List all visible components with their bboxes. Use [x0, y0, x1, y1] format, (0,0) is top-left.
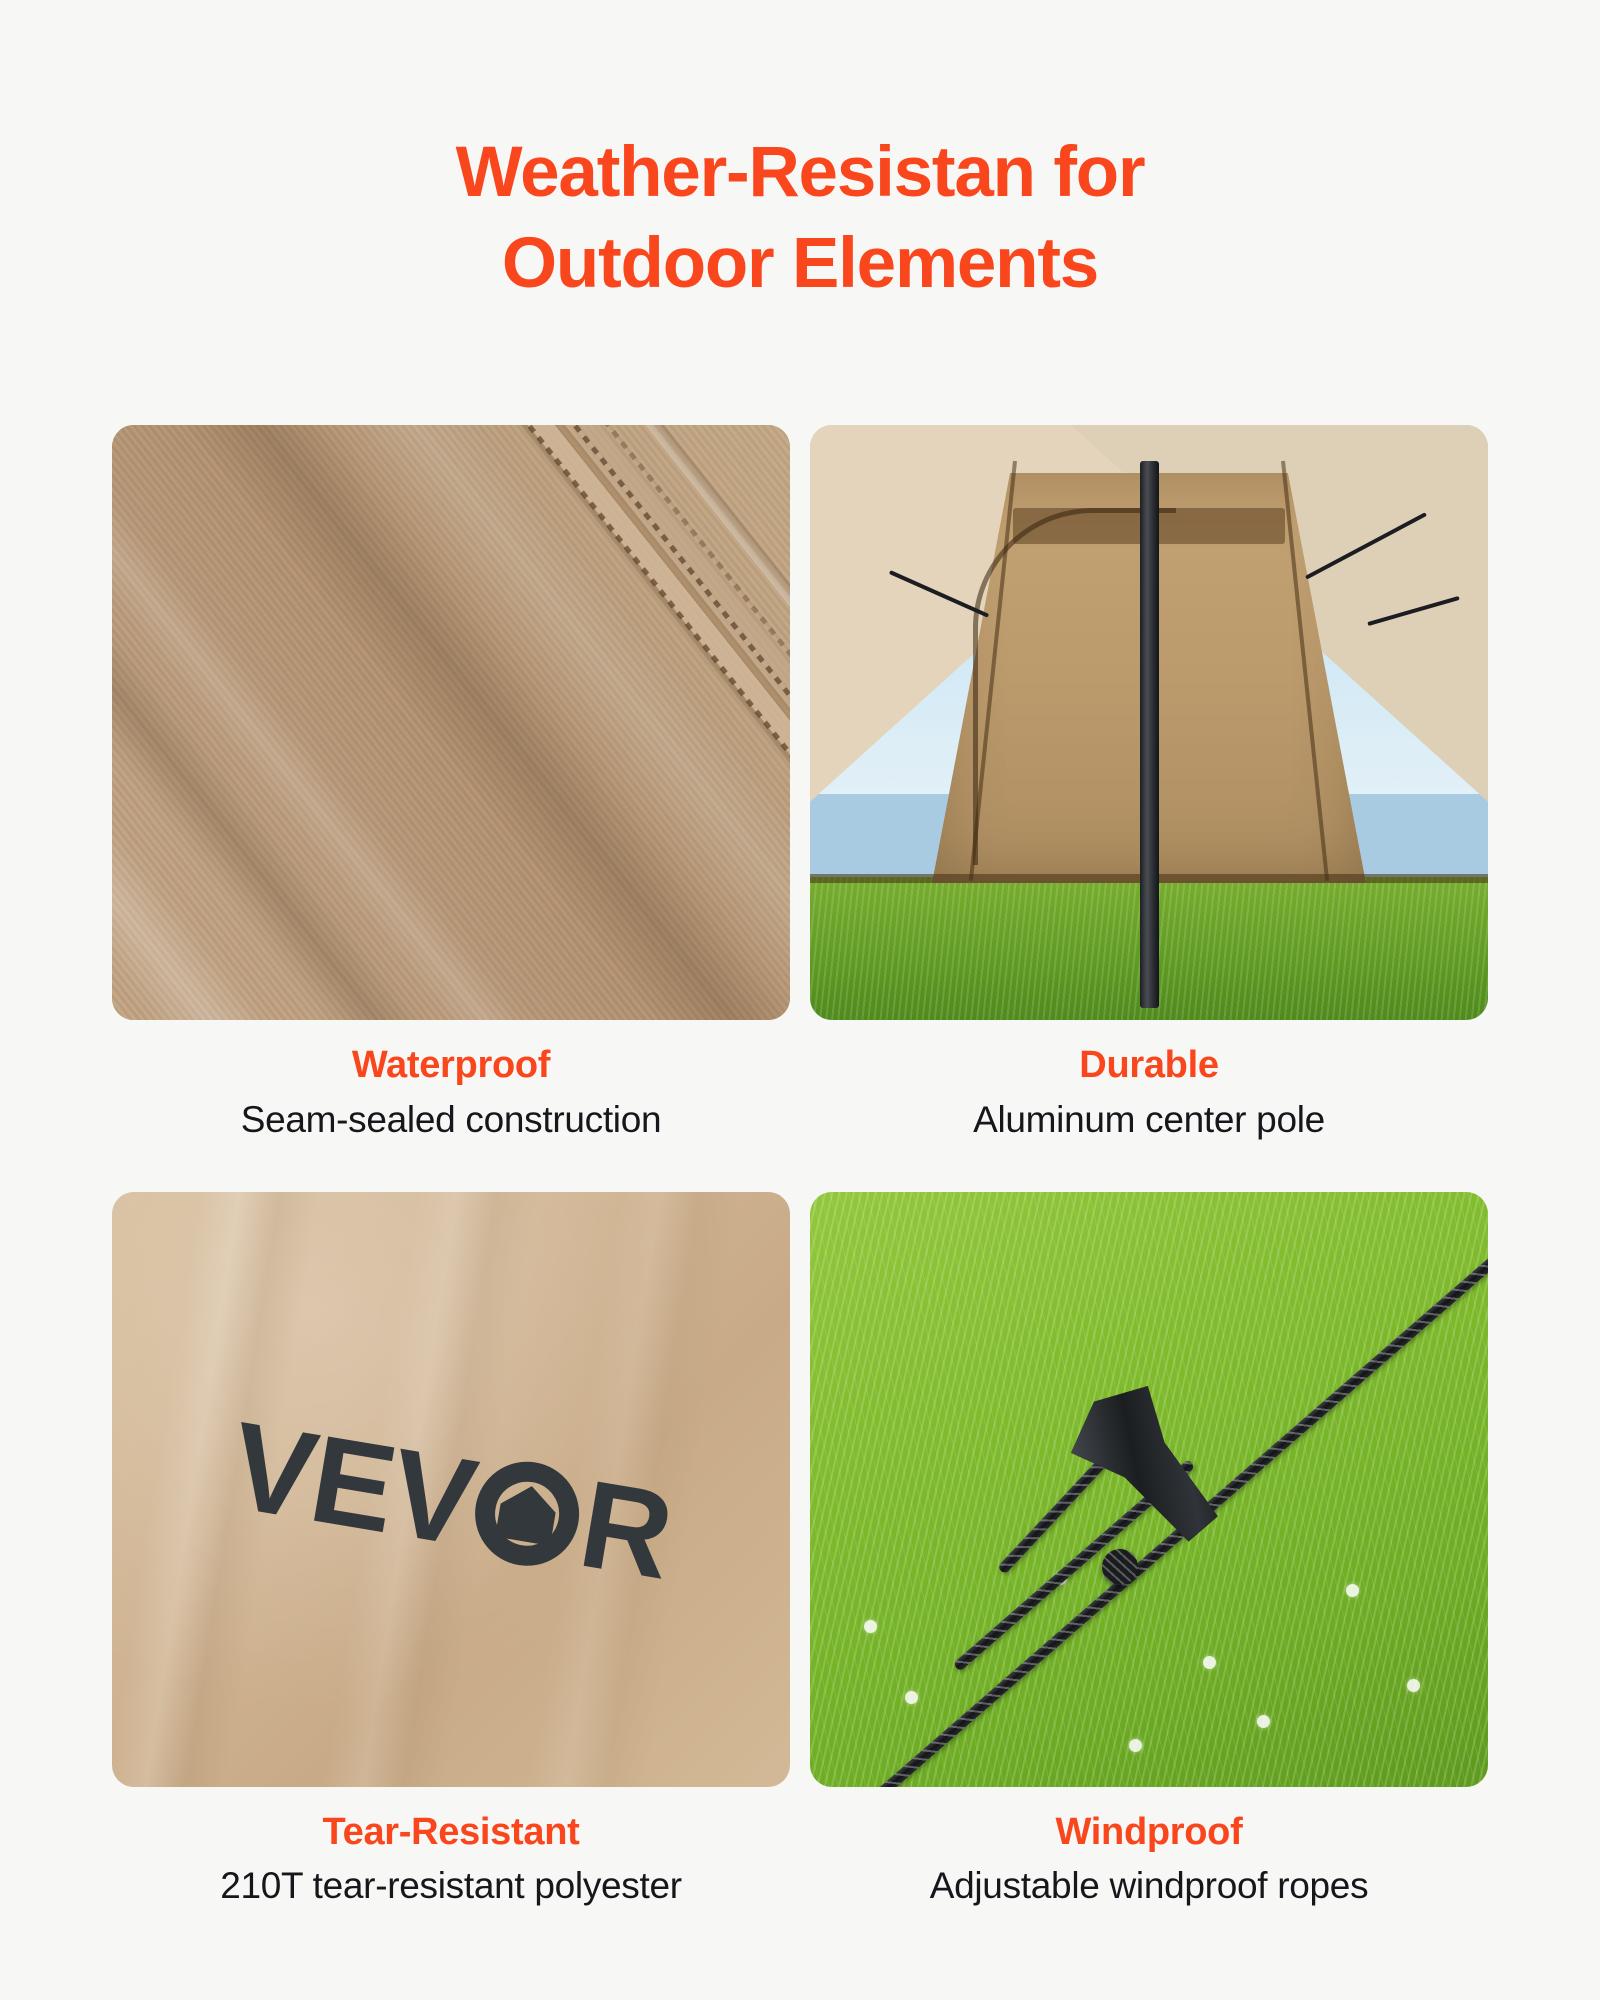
feature-title: Durable [810, 1042, 1488, 1090]
feature-row-top: Waterproof Seam-sealed construction [112, 425, 1488, 1144]
logo-o-pentagon-icon [467, 1454, 587, 1574]
clover-flower [1346, 1584, 1359, 1597]
product-feature-page: Weather-Resistan for Outdoor Elements [0, 0, 1600, 2000]
durable-photo [810, 425, 1488, 1020]
feature-card-tear-resistant: VEVR Tear-Resistant 210T tear-resistant … [112, 1192, 790, 1911]
feature-card-waterproof: Waterproof Seam-sealed construction [112, 425, 790, 1144]
aluminum-center-pole [1140, 461, 1159, 1008]
feature-subtitle: Adjustable windproof ropes [810, 1862, 1488, 1910]
tear-resistant-caption: Tear-Resistant 210T tear-resistant polye… [112, 1787, 790, 1911]
feature-row-bottom: VEVR Tear-Resistant 210T tear-resistant … [112, 1192, 1488, 1911]
feature-subtitle: Seam-sealed construction [112, 1096, 790, 1144]
clover-flower [1407, 1679, 1420, 1692]
feature-card-durable: Durable Aluminum center pole [810, 425, 1488, 1144]
clover-flower [905, 1691, 918, 1704]
feature-title: Windproof [810, 1809, 1488, 1857]
feature-subtitle: 210T tear-resistant polyester [112, 1862, 790, 1910]
rope-tensioner-adjuster [1055, 1368, 1242, 1562]
clover-flower [1257, 1715, 1270, 1728]
tear-resistant-photo: VEVR [112, 1192, 790, 1787]
page-title: Weather-Resistan for Outdoor Elements [0, 128, 1600, 310]
feature-title: Waterproof [112, 1042, 790, 1090]
windproof-caption: Windproof Adjustable windproof ropes [810, 1787, 1488, 1911]
clover-flower [1129, 1739, 1142, 1752]
windproof-photo [810, 1192, 1488, 1787]
waterproof-caption: Waterproof Seam-sealed construction [112, 1020, 790, 1144]
waterproof-photo [112, 425, 790, 1020]
feature-card-windproof: Windproof Adjustable windproof ropes [810, 1192, 1488, 1911]
feature-subtitle: Aluminum center pole [810, 1096, 1488, 1144]
durable-caption: Durable Aluminum center pole [810, 1020, 1488, 1144]
headline-line-1: Weather-Resistan for [456, 133, 1145, 212]
headline-line-2: Outdoor Elements [0, 219, 1600, 310]
rope-knot [1102, 1549, 1138, 1585]
clover-flower [864, 1620, 877, 1633]
clover-flower [1203, 1656, 1216, 1669]
feature-grid: Waterproof Seam-sealed construction [112, 425, 1488, 1910]
feature-title: Tear-Resistant [112, 1809, 790, 1857]
tent-fabric [112, 425, 790, 1020]
